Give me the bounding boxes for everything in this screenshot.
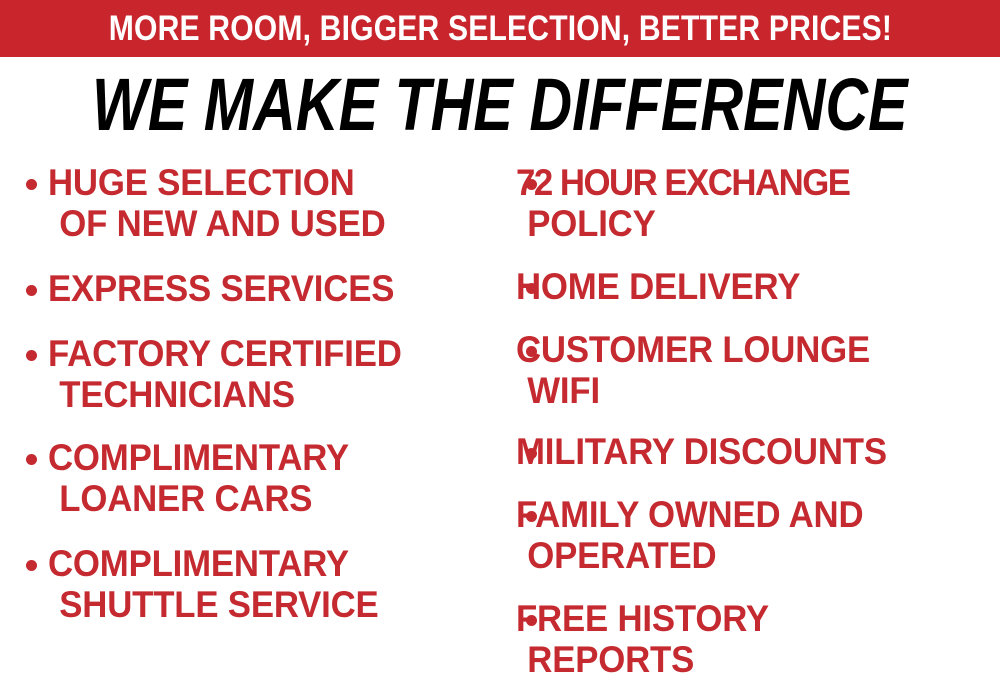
- page-title: WE MAKE THE DIFFERENCE: [92, 66, 908, 144]
- list-item-text: EXPRESS SERVICES: [48, 268, 473, 309]
- bullet-dot-icon: [26, 350, 37, 361]
- list-item: FACTORY CERTIFIED TECHNICIANS: [14, 333, 500, 415]
- list-item-line2: WIFI: [516, 370, 971, 411]
- list-item: FREE HISTORY REPORTS: [514, 598, 1000, 680]
- list-item-line2: OPERATED: [516, 535, 971, 576]
- list-item-line1: HUGE SELECTION: [48, 162, 355, 203]
- list-item-line2: TECHNICIANS: [48, 374, 473, 415]
- features-column-left: HUGE SELECTION OF NEW AND USED EXPRESS S…: [14, 150, 500, 625]
- headline-container: WE MAKE THE DIFFERENCE: [0, 64, 1000, 146]
- bullet-dot-icon: [26, 454, 37, 465]
- list-item-line1: 72 HOUR EXCHANGE: [516, 162, 849, 203]
- features-columns: HUGE SELECTION OF NEW AND USED EXPRESS S…: [0, 150, 1000, 694]
- list-item-text: COMPLIMENTARY LOANER CARS: [48, 437, 473, 519]
- list-item-text: 72 HOUR EXCHANGE POLICY: [516, 162, 971, 244]
- list-item: 72 HOUR EXCHANGE POLICY: [514, 162, 1000, 244]
- bullet-dot-icon: [26, 179, 37, 190]
- list-item-text: FREE HISTORY REPORTS: [516, 598, 971, 680]
- list-item-line1: FREE HISTORY: [516, 598, 769, 639]
- list-item: CUSTOMER LOUNGE WIFI: [514, 329, 1000, 411]
- list-item-line2: LOANER CARS: [48, 478, 473, 519]
- list-item: FAMILY OWNED AND OPERATED: [514, 494, 1000, 576]
- list-item-text: CUSTOMER LOUNGE WIFI: [516, 329, 971, 411]
- list-item: MILITARY DISCOUNTS: [514, 431, 1000, 472]
- list-item-line1: COMPLIMENTARY: [48, 437, 349, 478]
- list-item-text: HOME DELIVERY: [516, 266, 971, 307]
- top-banner-text: MORE ROOM, BIGGER SELECTION, BETTER PRIC…: [108, 11, 891, 47]
- list-item-line2: POLICY: [516, 203, 971, 244]
- list-item-line1: FAMILY OWNED AND: [516, 494, 863, 535]
- list-item-line1: FACTORY CERTIFIED: [48, 333, 402, 374]
- list-item-line2: OF NEW AND USED: [48, 203, 473, 244]
- bullet-dot-icon: [26, 285, 37, 296]
- list-item-text: FAMILY OWNED AND OPERATED: [516, 494, 971, 576]
- list-item: HOME DELIVERY: [514, 266, 1000, 307]
- list-item: COMPLIMENTARY SHUTTLE SERVICE: [14, 543, 500, 625]
- list-item-line1: HOME DELIVERY: [516, 266, 800, 307]
- list-item-line1: MILITARY DISCOUNTS: [516, 431, 887, 472]
- top-banner: MORE ROOM, BIGGER SELECTION, BETTER PRIC…: [0, 0, 1000, 57]
- list-item-text: HUGE SELECTION OF NEW AND USED: [48, 162, 473, 244]
- list-item-line1: COMPLIMENTARY: [48, 543, 349, 584]
- list-item-line1: CUSTOMER LOUNGE: [516, 329, 870, 370]
- list-item-text: COMPLIMENTARY SHUTTLE SERVICE: [48, 543, 473, 625]
- list-item-line2: SHUTTLE SERVICE: [48, 584, 473, 625]
- list-item-text: MILITARY DISCOUNTS: [516, 431, 971, 472]
- list-item: HUGE SELECTION OF NEW AND USED: [14, 162, 500, 244]
- bullet-dot-icon: [26, 560, 37, 571]
- list-item-line1: EXPRESS SERVICES: [48, 268, 394, 309]
- list-item-text: FACTORY CERTIFIED TECHNICIANS: [48, 333, 473, 415]
- list-item: EXPRESS SERVICES: [14, 268, 500, 309]
- list-item-line2: REPORTS: [516, 639, 971, 680]
- features-column-right: 72 HOUR EXCHANGE POLICY HOME DELIVERY CU…: [514, 150, 1000, 680]
- list-item: COMPLIMENTARY LOANER CARS: [14, 437, 500, 519]
- poster-root: MORE ROOM, BIGGER SELECTION, BETTER PRIC…: [0, 0, 1000, 694]
